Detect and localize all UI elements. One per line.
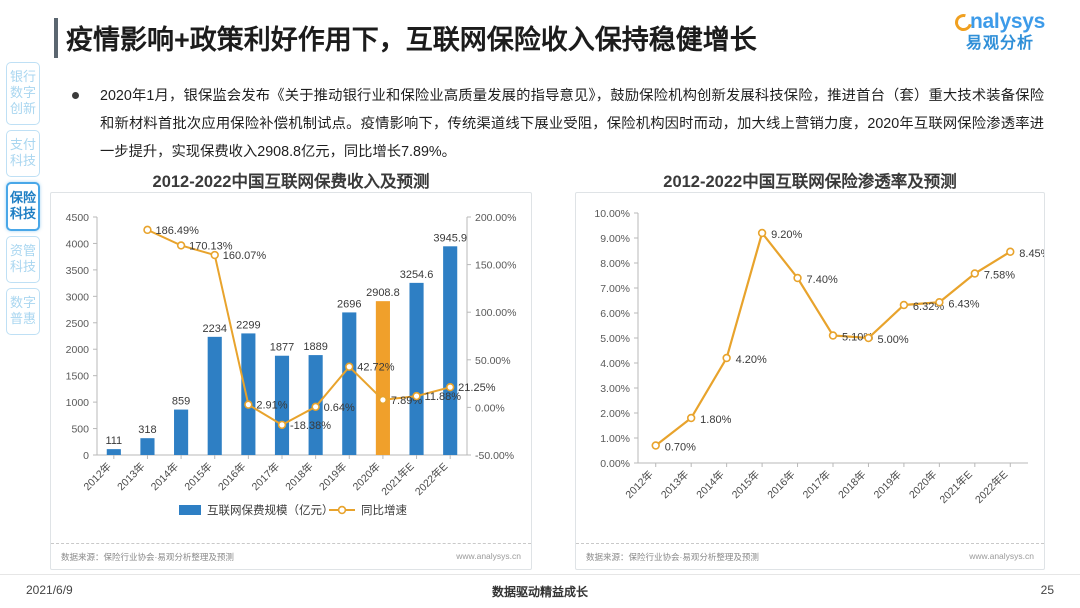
line-marker[interactable] bbox=[178, 242, 185, 249]
bar[interactable] bbox=[208, 337, 222, 455]
bar[interactable] bbox=[376, 301, 390, 455]
analysys-logo: nalysys 易观分析 bbox=[944, 10, 1056, 62]
chart-text: 3254.6 bbox=[400, 269, 434, 281]
chart-text: 4500 bbox=[66, 212, 90, 224]
sidebar-item-label: 数字普惠 bbox=[7, 295, 39, 327]
chart-panel-penetration: 0.00%1.00%2.00%3.00%4.00%5.00%6.00%7.00%… bbox=[575, 192, 1045, 570]
chart-text: 2017年 bbox=[800, 468, 833, 501]
line-marker[interactable] bbox=[380, 396, 387, 403]
sidebar-item-bank[interactable]: 银行数字创新 bbox=[6, 62, 40, 125]
chart-text: 2016年 bbox=[765, 468, 798, 501]
bullet-text: 2020年1月，银保监会发布《关于推动银行业和保险业高质量发展的指导意见》，鼓励… bbox=[100, 82, 1044, 166]
bullet-paragraph: 2020年1月，银保监会发布《关于推动银行业和保险业高质量发展的指导意见》，鼓励… bbox=[72, 82, 1044, 166]
line-marker[interactable] bbox=[936, 299, 943, 306]
chart-text: 3945.9 bbox=[433, 232, 467, 244]
chart-text: 5.00% bbox=[600, 333, 630, 345]
chart-text: 4.00% bbox=[600, 358, 630, 370]
chart-text: 2018年 bbox=[835, 468, 868, 501]
bar-item[interactable] bbox=[107, 449, 121, 455]
source-row-left: 数据来源：保险行业协会·易观分析整理及预测 www.analysys.cn bbox=[51, 543, 531, 569]
chart-text: 10.00% bbox=[594, 208, 630, 220]
chart-text: 6.00% bbox=[600, 308, 630, 320]
sidebar-item-asset-mgmt[interactable]: 资管科技 bbox=[6, 236, 40, 283]
chart-text: 3500 bbox=[66, 265, 90, 277]
chart-penetration-rate[interactable]: 0.00%1.00%2.00%3.00%4.00%5.00%6.00%7.00%… bbox=[576, 193, 1044, 543]
chart-text: 2020年 bbox=[906, 468, 939, 501]
chart-text: 2908.8 bbox=[366, 287, 400, 299]
chart-text: 2.91% bbox=[256, 400, 287, 412]
chart-text: 2021年E bbox=[937, 468, 975, 506]
sidebar-tabs: 银行数字创新 支付科技 保险科技 资管科技 数字普惠 bbox=[6, 62, 44, 340]
sidebar-item-payment[interactable]: 支付科技 bbox=[6, 130, 40, 177]
chart-text: 2016年 bbox=[215, 460, 248, 493]
chart-text: 9.20% bbox=[771, 229, 802, 241]
sidebar-item-inclusive-finance[interactable]: 数字普惠 bbox=[6, 288, 40, 335]
sidebar-item-label: 银行数字创新 bbox=[7, 69, 39, 117]
line-marker[interactable] bbox=[652, 442, 659, 449]
chart-text: 0.64% bbox=[324, 402, 355, 414]
line-marker[interactable] bbox=[1007, 248, 1014, 255]
chart-text: 7.00% bbox=[600, 283, 630, 295]
footer-page-number: 25 bbox=[1041, 583, 1054, 597]
bar-item[interactable] bbox=[140, 438, 154, 455]
chart-text: 互联网保费规模（亿元） bbox=[207, 503, 334, 517]
line-marker[interactable] bbox=[346, 363, 353, 370]
source-url: www.analysys.cn bbox=[456, 551, 521, 561]
bar[interactable] bbox=[342, 312, 356, 455]
line-marker[interactable] bbox=[830, 332, 837, 339]
chart-text: 3000 bbox=[66, 291, 90, 303]
bar-item[interactable] bbox=[376, 301, 390, 455]
chart-text: 50.00% bbox=[475, 355, 511, 367]
source-row-right: 数据来源：保险行业协会·易观分析整理及预测 www.analysys.cn bbox=[576, 543, 1044, 569]
chart-text: 11.88% bbox=[425, 391, 462, 403]
chart-text: 2019年 bbox=[316, 460, 349, 493]
chart-premium-income[interactable]: 050010001500200025003000350040004500-50.… bbox=[51, 193, 531, 543]
chart-text: 2019年 bbox=[871, 468, 904, 501]
chart-text: 859 bbox=[172, 396, 190, 408]
legend-swatch-bar bbox=[179, 505, 201, 515]
line-marker[interactable] bbox=[211, 252, 218, 259]
chart-text: 2017年 bbox=[249, 460, 282, 493]
logo-chinese-text: 易观分析 bbox=[944, 34, 1056, 53]
bar[interactable] bbox=[409, 283, 423, 455]
chart-text: 2000 bbox=[66, 344, 90, 356]
chart-text: 1.80% bbox=[700, 414, 731, 426]
chart-text: 2500 bbox=[66, 318, 90, 330]
chart-text: 0.00% bbox=[600, 458, 630, 470]
line-marker[interactable] bbox=[245, 401, 252, 408]
chart-text: 5.00% bbox=[877, 334, 908, 346]
chart-text: 1000 bbox=[66, 397, 90, 409]
chart-text: 6.43% bbox=[948, 298, 979, 310]
chart-text: 186.49% bbox=[155, 225, 199, 237]
chart-text: 2022年E bbox=[412, 460, 450, 498]
chart-text: -50.00% bbox=[475, 450, 514, 462]
chart-text: 2015年 bbox=[729, 468, 762, 501]
chart-text: 2012年 bbox=[623, 468, 656, 501]
chart-text: 1877 bbox=[270, 342, 294, 354]
bar-item[interactable] bbox=[241, 333, 255, 455]
bar-item[interactable] bbox=[342, 312, 356, 455]
bar-item[interactable] bbox=[443, 246, 457, 455]
source-url: www.analysys.cn bbox=[969, 551, 1034, 561]
chart-text: 2021年E bbox=[379, 460, 417, 498]
chart-text: 7.40% bbox=[807, 274, 838, 286]
chart-text: 2299 bbox=[236, 319, 260, 331]
chart-text: 150.00% bbox=[475, 260, 516, 272]
chart-text: 9.00% bbox=[600, 233, 630, 245]
bullet-dot-icon bbox=[72, 92, 79, 99]
chart-text: 2015年 bbox=[182, 460, 215, 493]
legend-marker bbox=[339, 507, 346, 514]
line-marker[interactable] bbox=[794, 275, 801, 282]
chart-text: 2020年 bbox=[350, 460, 383, 493]
chart-text: 同比增速 bbox=[361, 503, 407, 517]
chart-text: 2013年 bbox=[658, 468, 691, 501]
chart-text: -18.38% bbox=[290, 420, 331, 432]
bar[interactable] bbox=[174, 410, 188, 455]
source-text: 数据来源：保险行业协会·易观分析整理及预测 bbox=[586, 551, 759, 563]
chart-text: 42.72% bbox=[357, 362, 395, 374]
line-marker[interactable] bbox=[144, 226, 151, 233]
chart-text: 2012年 bbox=[81, 460, 114, 493]
line-marker[interactable] bbox=[759, 230, 766, 237]
sidebar-item-label: 保险科技 bbox=[8, 190, 38, 222]
chart-text: 3.00% bbox=[600, 383, 630, 395]
chart-text: 100.00% bbox=[475, 307, 516, 319]
chart-text: 200.00% bbox=[475, 212, 516, 224]
chart-text: 2.00% bbox=[600, 408, 630, 420]
line-marker[interactable] bbox=[447, 384, 454, 391]
chart-text: 21.25% bbox=[458, 382, 496, 394]
bar[interactable] bbox=[140, 438, 154, 455]
chart-text: 2014年 bbox=[148, 460, 181, 493]
line-marker[interactable] bbox=[688, 415, 695, 422]
line-marker[interactable] bbox=[413, 393, 420, 400]
sidebar-item-label: 支付科技 bbox=[7, 137, 39, 169]
bar[interactable] bbox=[241, 333, 255, 455]
chart-text: 0.00% bbox=[475, 402, 505, 414]
line-marker[interactable] bbox=[312, 403, 319, 410]
chart-text: 0 bbox=[83, 450, 89, 462]
chart-text: 7.58% bbox=[984, 270, 1015, 282]
chart-text: 2022年E bbox=[972, 468, 1010, 506]
slide-page: 疫情影响+政策利好作用下，互联网保险收入保持稳健增长 nalysys 易观分析 … bbox=[0, 0, 1080, 608]
chart-title-penetration: 2012-2022中国互联网保险渗透率及预测 bbox=[575, 168, 1045, 192]
bar[interactable] bbox=[443, 246, 457, 455]
line-marker[interactable] bbox=[865, 335, 872, 342]
bar-item[interactable] bbox=[208, 337, 222, 455]
chart-text: 4000 bbox=[66, 238, 90, 250]
chart-text: 0.70% bbox=[665, 442, 696, 454]
bar[interactable] bbox=[107, 449, 121, 455]
page-title: 疫情影响+政策利好作用下，互联网保险收入保持稳健增长 bbox=[66, 18, 757, 57]
chart-panel-premium: 050010001500200025003000350040004500-50.… bbox=[50, 192, 532, 570]
chart-text: 1889 bbox=[303, 341, 327, 353]
sidebar-item-insurance[interactable]: 保险科技 bbox=[6, 182, 40, 231]
chart-text: 2696 bbox=[337, 298, 361, 310]
chart-text: 318 bbox=[138, 424, 156, 436]
chart-text: 160.07% bbox=[223, 250, 267, 262]
chart-text: 2234 bbox=[202, 323, 226, 335]
slide-header: 疫情影响+政策利好作用下，互联网保险收入保持稳健增长 nalysys 易观分析 bbox=[0, 0, 1080, 72]
footer-slogan: 数据驱动精益成长 bbox=[0, 583, 1080, 600]
chart-text: 2018年 bbox=[283, 460, 316, 493]
logo-wordmark: nalysys bbox=[944, 10, 1056, 34]
logo-word-text: nalysys bbox=[970, 10, 1045, 33]
line-marker[interactable] bbox=[901, 302, 908, 309]
line-marker[interactable] bbox=[971, 270, 978, 277]
chart-text: 1500 bbox=[66, 371, 90, 383]
line-marker[interactable] bbox=[723, 355, 730, 362]
chart-text: 4.20% bbox=[736, 354, 767, 366]
source-text: 数据来源：保险行业协会·易观分析整理及预测 bbox=[61, 551, 234, 563]
slide-footer: 2021/6/9 数据驱动精益成长 25 bbox=[0, 574, 1080, 608]
title-accent-bar bbox=[54, 18, 58, 58]
bar-item[interactable] bbox=[174, 410, 188, 455]
bar-item[interactable] bbox=[409, 283, 423, 455]
chart-text: 1.00% bbox=[600, 433, 630, 445]
chart-text: 2014年 bbox=[694, 468, 727, 501]
chart-text: 500 bbox=[71, 424, 89, 436]
chart-text: 111 bbox=[105, 435, 122, 447]
line-marker[interactable] bbox=[279, 421, 286, 428]
chart-title-premium: 2012-2022中国互联网保费收入及预测 bbox=[50, 168, 532, 192]
chart-text: 2013年 bbox=[114, 460, 147, 493]
chart-text: 8.00% bbox=[600, 258, 630, 270]
sidebar-item-label: 资管科技 bbox=[7, 243, 39, 275]
chart-text: 8.45% bbox=[1019, 248, 1044, 260]
